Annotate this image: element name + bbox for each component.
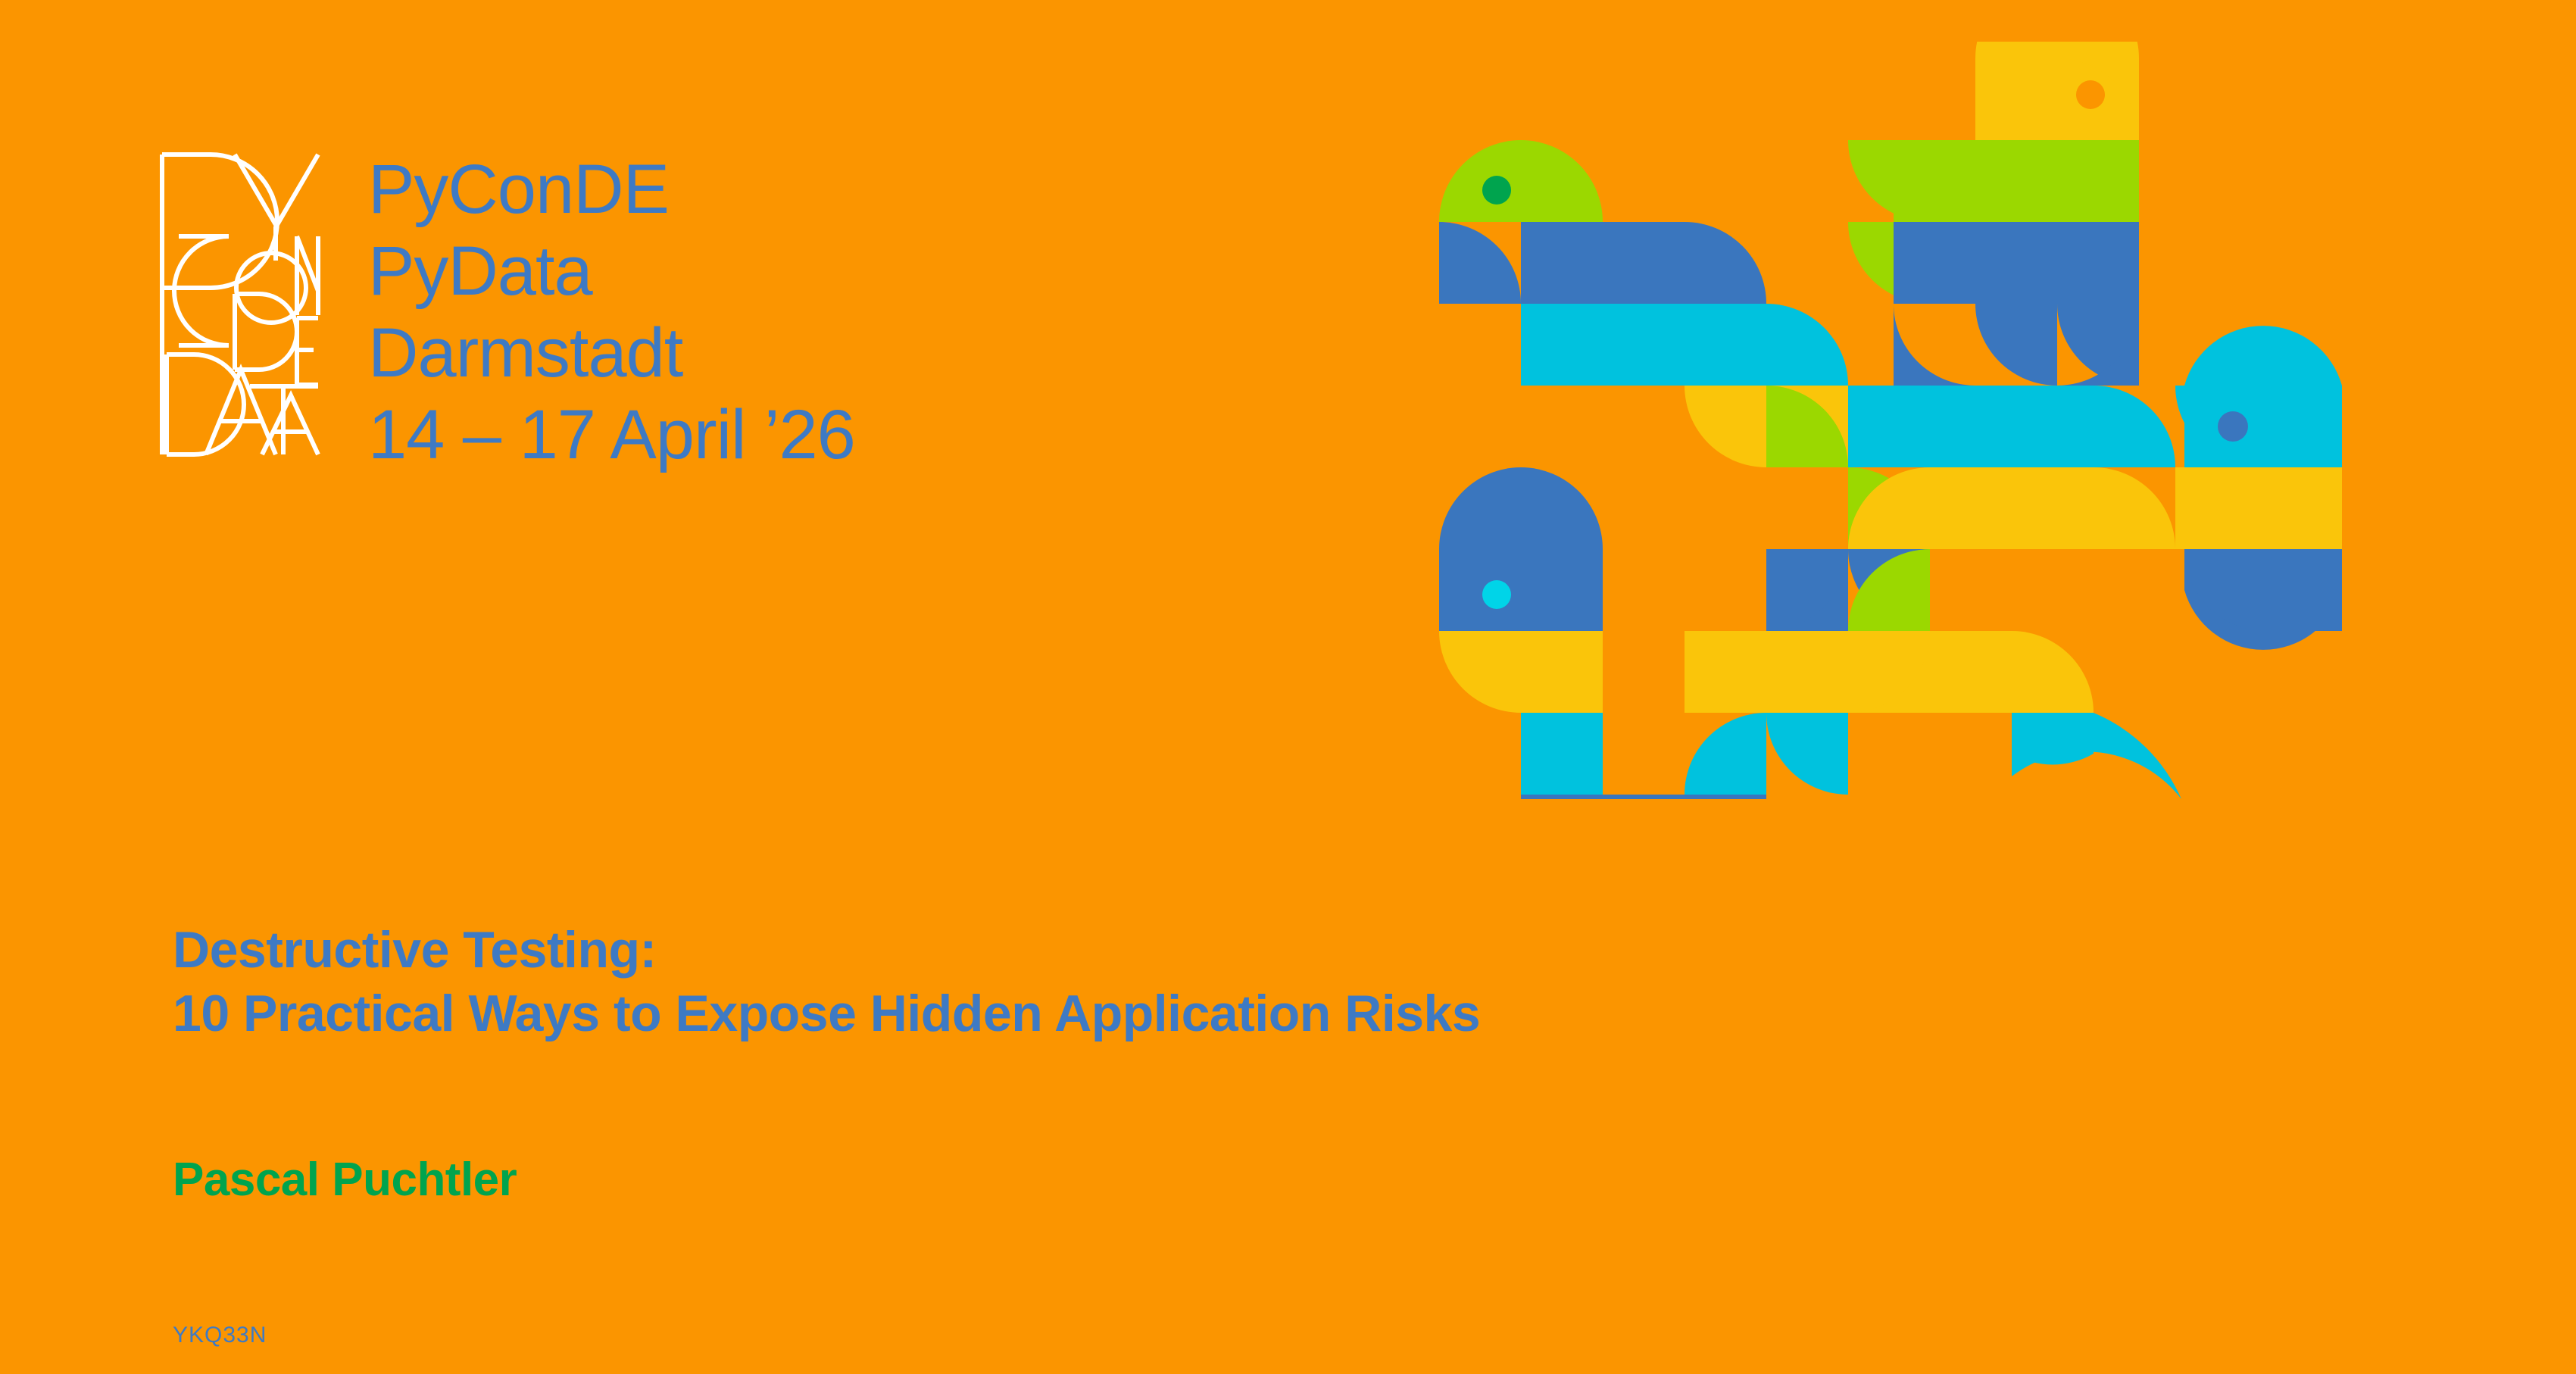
conference-wordmark: PyConDE PyData Darmstadt 14 – 17 April ’… (368, 148, 855, 476)
conference-lockup: PyConDE PyData Darmstadt 14 – 17 April ’… (156, 148, 855, 476)
birds-pattern-icon (1424, 42, 2357, 799)
pyconde-pydata-monogram-icon (156, 148, 324, 461)
session-code: YKQ33N (173, 1322, 267, 1349)
wordmark-line-dates: 14 – 17 April ’26 (368, 394, 855, 476)
talk-title: Destructive Testing: 10 Practical Ways t… (173, 918, 1480, 1045)
speaker-name: Pascal Puchtler (173, 1151, 517, 1209)
pyconde-birds-artwork (1424, 42, 2357, 799)
title-line-1: Destructive Testing: (173, 918, 1480, 982)
slide-root: PyConDE PyData Darmstadt 14 – 17 April ’… (0, 0, 2576, 1374)
wordmark-line-pydata: PyData (368, 230, 855, 312)
wordmark-line-darmstadt: Darmstadt (368, 312, 855, 394)
wordmark-line-pyconde: PyConDE (368, 148, 855, 230)
title-line-2: 10 Practical Ways to Expose Hidden Appli… (173, 982, 1480, 1045)
